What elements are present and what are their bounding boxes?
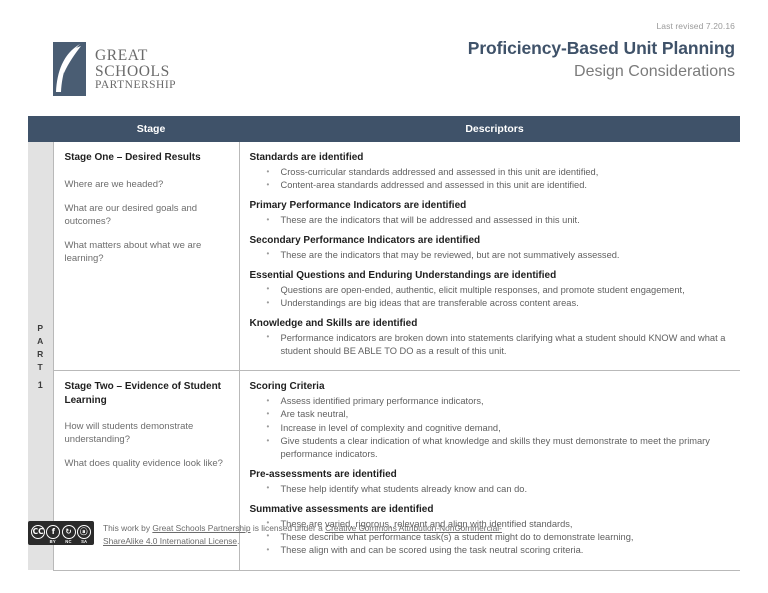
descriptor-group-title: Standards are identified bbox=[250, 151, 733, 164]
logo-line-schools: SCHOOLS bbox=[95, 64, 176, 80]
license-text: This work by Great Schools Partnership i… bbox=[103, 521, 528, 547]
stage-cell-one: Stage One – Desired Results Where are we… bbox=[53, 142, 239, 371]
cc-icon: CC bbox=[31, 525, 45, 539]
descriptor-bullet: Understandings are big ideas that are tr… bbox=[250, 297, 733, 310]
descriptor-group: Primary Performance Indicators are ident… bbox=[250, 199, 733, 227]
cc-by-person-icon: f bbox=[46, 525, 60, 539]
descriptor-bullet: Cross-curricular standards addressed and… bbox=[250, 166, 733, 179]
page-title: Proficiency-Based Unit Planning bbox=[468, 38, 735, 60]
descriptor-bullet-list: Assess identified primary performance in… bbox=[250, 395, 733, 461]
license-org-link[interactable]: Great Schools Partnership bbox=[152, 523, 250, 533]
cc-nc-icon: ↻ bbox=[62, 525, 76, 539]
page-subtitle: Design Considerations bbox=[468, 61, 735, 83]
table-header-row: Stage Descriptors bbox=[28, 116, 740, 142]
descriptor-group-title: Pre-assessments are identified bbox=[250, 468, 733, 481]
part-letter: R bbox=[28, 348, 53, 361]
design-considerations-table: Stage Descriptors P A R T 1 Stage One – … bbox=[28, 116, 740, 571]
license-footer: CC f ↻ ⓐ BY NC SA This work by Great Sch… bbox=[28, 521, 528, 547]
part-letter: T bbox=[28, 361, 53, 374]
descriptor-bullet-list: Questions are open-ended, authentic, eli… bbox=[250, 284, 733, 310]
license-middle: is licensed under a bbox=[251, 523, 326, 533]
table-row: P A R T 1 Stage One – Desired Results Wh… bbox=[28, 142, 740, 371]
descriptor-group: Pre-assessments are identified These hel… bbox=[250, 468, 733, 496]
descriptor-group: Standards are identified Cross-curricula… bbox=[250, 151, 733, 192]
cc-label-sa: SA bbox=[81, 539, 87, 544]
license-prefix: This work by bbox=[103, 523, 152, 533]
descriptor-group: Essential Questions and Enduring Underst… bbox=[250, 269, 733, 310]
part-letters: P A R T bbox=[28, 322, 53, 375]
last-revised-text: Last revised 7.20.16 bbox=[656, 21, 735, 31]
descriptor-bullet: These help identify what students alread… bbox=[250, 483, 733, 496]
table-body: P A R T 1 Stage One – Desired Results Wh… bbox=[28, 142, 740, 570]
document-page: Last revised 7.20.16 GREAT SCHOOLS PARTN… bbox=[0, 0, 768, 593]
stage-question: What does quality evidence look like? bbox=[65, 457, 227, 470]
descriptor-group-title: Secondary Performance Indicators are ide… bbox=[250, 234, 733, 247]
descriptor-bullet: Increase in level of complexity and cogn… bbox=[250, 422, 733, 435]
logo-wordmark: GREAT SCHOOLS PARTNERSHIP bbox=[95, 48, 176, 91]
descriptor-group: Knowledge and Skills are identified Perf… bbox=[250, 317, 733, 358]
descriptor-bullet-list: These are the indicators that may be rev… bbox=[250, 249, 733, 262]
descriptor-group-title: Essential Questions and Enduring Underst… bbox=[250, 269, 733, 282]
part-letter: P bbox=[28, 322, 53, 335]
organization-logo: GREAT SCHOOLS PARTNERSHIP bbox=[53, 42, 176, 96]
cc-label-nc: NC bbox=[65, 539, 71, 544]
descriptor-group: Scoring Criteria Assess identified prima… bbox=[250, 380, 733, 461]
stage-title: Stage One – Desired Results bbox=[65, 151, 227, 165]
descriptor-bullet: Are task neutral, bbox=[250, 408, 733, 421]
logo-line-great: GREAT bbox=[95, 48, 176, 64]
license-suffix: . bbox=[237, 536, 239, 546]
stage-question: How will students demonstrate understand… bbox=[65, 420, 227, 446]
part-letter: A bbox=[28, 335, 53, 348]
descriptor-bullet: Performance indicators are broken down i… bbox=[250, 332, 733, 358]
descriptor-group-title: Summative assessments are identified bbox=[250, 503, 733, 516]
column-header-stage: Stage bbox=[53, 116, 239, 142]
title-block: Proficiency-Based Unit Planning Design C… bbox=[468, 38, 735, 82]
column-header-part bbox=[28, 116, 53, 142]
descriptor-bullet: Give students a clear indication of what… bbox=[250, 435, 733, 461]
descriptor-bullet-list: These are the indicators that will be ad… bbox=[250, 214, 733, 227]
part-label-cell: P A R T 1 bbox=[28, 142, 53, 570]
cc-label-by: BY bbox=[50, 539, 56, 544]
descriptor-bullet: Assess identified primary performance in… bbox=[250, 395, 733, 408]
part-number: 1 bbox=[28, 380, 53, 390]
document-header: GREAT SCHOOLS PARTNERSHIP Proficiency-Ba… bbox=[35, 38, 735, 100]
creative-commons-badge-icon: CC f ↻ ⓐ BY NC SA bbox=[28, 521, 94, 545]
stage-question: Where are we headed? bbox=[65, 178, 227, 191]
descriptor-bullet-list: Cross-curricular standards addressed and… bbox=[250, 166, 733, 192]
table-header: Stage Descriptors bbox=[28, 116, 740, 142]
descriptor-group-title: Scoring Criteria bbox=[250, 380, 733, 393]
descriptor-bullet: Questions are open-ended, authentic, eli… bbox=[250, 284, 733, 297]
descriptor-bullet-list: These help identify what students alread… bbox=[250, 483, 733, 496]
cc-badge-labels: BY NC SA bbox=[45, 539, 92, 544]
cc-sa-icon: ⓐ bbox=[77, 525, 91, 539]
descriptor-bullet-list: Performance indicators are broken down i… bbox=[250, 332, 733, 358]
stage-title: Stage Two – Evidence of Student Learning bbox=[65, 380, 227, 407]
descriptor-group: Secondary Performance Indicators are ide… bbox=[250, 234, 733, 262]
descriptor-bullet: These are the indicators that will be ad… bbox=[250, 214, 733, 227]
descriptor-bullet: These are the indicators that may be rev… bbox=[250, 249, 733, 262]
descriptors-cell-one: Standards are identified Cross-curricula… bbox=[239, 142, 740, 371]
descriptor-bullet: Content-area standards addressed and ass… bbox=[250, 179, 733, 192]
descriptor-group-title: Primary Performance Indicators are ident… bbox=[250, 199, 733, 212]
descriptor-group-title: Knowledge and Skills are identified bbox=[250, 317, 733, 330]
logo-line-partnership: PARTNERSHIP bbox=[95, 80, 176, 92]
stage-question: What are our desired goals and outcomes? bbox=[65, 202, 227, 228]
column-header-descriptors: Descriptors bbox=[239, 116, 740, 142]
stage-question: What matters about what we are learning? bbox=[65, 239, 227, 265]
sprout-logo-icon bbox=[53, 42, 86, 96]
